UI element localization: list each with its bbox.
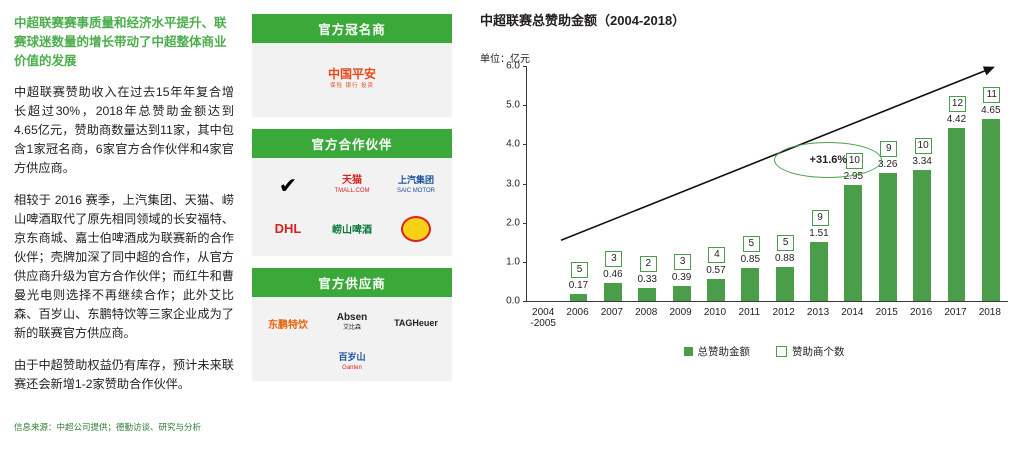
x-axis-tick-label: 2011 <box>732 307 766 318</box>
panel-official-suppliers-body: 东鹏特饮 Absen 艾比森 TAGHeuer 百岁山 Ganten <box>252 297 452 381</box>
absen-logo: Absen 艾比森 <box>322 306 382 340</box>
bar-2006 <box>570 294 588 301</box>
y-axis-tick: 0.0 <box>480 296 520 307</box>
panel-title-sponsor: 官方冠名商 中国平安 保险 银行 投资 <box>252 14 452 117</box>
bar-value-label: 4.42 <box>939 114 973 125</box>
y-axis-tick-mark <box>523 105 527 106</box>
y-axis-tick: 3.0 <box>480 178 520 189</box>
bar-2010 <box>707 279 725 301</box>
bar-value-label: 0.46 <box>596 269 630 280</box>
sponsor-count-box: 9 <box>812 210 829 226</box>
sponsor-count-box: 3 <box>605 251 622 267</box>
y-axis-tick: 2.0 <box>480 217 520 228</box>
y-axis-tick: 6.0 <box>480 61 520 72</box>
legend-item-amount: 总赞助金额 <box>684 344 751 359</box>
shell-logo <box>386 212 446 246</box>
tmall-logo-text: 天猫 <box>342 175 362 186</box>
source-note: 信息来源：中超公司提供；德勤访谈、研究与分析 <box>14 421 201 433</box>
intro-paragraph-3: 由于中超赞助权益仍有库存，预计未来联赛还会新增1-2家赞助合作伙伴。 <box>14 356 234 394</box>
bar-value-label: 3.34 <box>905 156 939 167</box>
absen-logo-subtext: 艾比森 <box>343 323 361 334</box>
bar-2017 <box>948 128 966 301</box>
bar-value-label: 0.39 <box>664 272 698 283</box>
shell-logo-mark <box>401 216 431 242</box>
x-axis-tick-label: 2004-2005 <box>526 307 560 329</box>
sponsor-count-box: 11 <box>983 87 1000 103</box>
chart-legend: 总赞助金额 赞助商个数 <box>524 344 1004 359</box>
pingan-logo-text: 中国平安 <box>328 68 376 81</box>
tagheuer-logo: TAGHeuer <box>386 306 446 340</box>
bar-2016 <box>913 170 931 301</box>
sponsor-count-box: 12 <box>949 96 966 112</box>
intro-heading: 中超联赛赛事质量和经济水平提升、联赛球迷数量的增长带动了中超整体商业价值的发展 <box>14 14 234 71</box>
absen-logo-text: Absen <box>337 312 368 323</box>
y-axis-tick-mark <box>523 144 527 145</box>
legend-swatch-count-icon <box>776 346 787 357</box>
bar-value-label: 0.17 <box>561 280 595 291</box>
sponsor-count-box: 9 <box>880 141 897 157</box>
saic-motor-logo-subtext: SAIC MOTOR <box>397 186 435 197</box>
y-axis-tick-mark <box>523 223 527 224</box>
panel-title-sponsor-body: 中国平安 保险 银行 投资 <box>252 43 452 117</box>
saic-motor-logo-text: 上汽集团 <box>398 175 434 186</box>
x-axis-tick-label: 2015 <box>870 307 904 318</box>
dhl-logo-text: DHL <box>275 221 302 236</box>
sponsor-logo-column: 官方冠名商 中国平安 保险 银行 投资 官方合作伙伴 ✔ 天猫 TMALL.CO… <box>252 14 452 393</box>
sponsor-count-box: 5 <box>777 235 794 251</box>
intro-text-column: 中超联赛赛事质量和经济水平提升、联赛球迷数量的增长带动了中超整体商业价值的发展 … <box>14 14 234 407</box>
x-axis-tick-label: 2007 <box>595 307 629 318</box>
bar-value-label: 0.33 <box>630 274 664 285</box>
saic-motor-logo: 上汽集团 SAIC MOTOR <box>386 169 446 203</box>
chart-container: 中超联赛总赞助金额（2004-2018） 单位：亿元 0.1750.4630.3… <box>478 10 1010 400</box>
tagheuer-logo-text: TAGHeuer <box>394 318 438 328</box>
panel-official-partners: 官方合作伙伴 ✔ 天猫 TMALL.COM 上汽集团 SAIC MOTOR DH… <box>252 129 452 256</box>
ganten-logo-text: 百岁山 <box>338 352 365 363</box>
x-axis-tick-label: 2010 <box>698 307 732 318</box>
x-axis-tick-label: 2014 <box>835 307 869 318</box>
bar-2011 <box>741 268 759 301</box>
y-axis-tick-mark <box>523 184 527 185</box>
eastroc-logo: 东鹏特饮 <box>258 306 318 340</box>
pingan-logo-subtext: 保险 银行 投资 <box>330 81 374 92</box>
chart-plot: 0.1750.4630.3320.3930.5740.8550.8851.519… <box>480 66 1008 334</box>
eastroc-logo-text: 东鹏特饮 <box>268 316 308 331</box>
x-axis-tick-label: 2006 <box>560 307 594 318</box>
y-axis-tick: 5.0 <box>480 100 520 111</box>
ganten-logo: 百岁山 Ganten <box>322 346 382 380</box>
bar-value-label: 4.65 <box>974 105 1008 116</box>
bar-2018 <box>982 119 1000 301</box>
y-axis-tick-mark <box>523 66 527 67</box>
y-axis-tick-mark <box>523 301 527 302</box>
ganten-logo-subtext: Ganten <box>342 363 362 374</box>
bar-2007 <box>604 283 622 301</box>
laoshan-beer-logo-text: 崂山啤酒 <box>332 221 372 236</box>
tmall-logo: 天猫 TMALL.COM <box>322 169 382 203</box>
sponsor-count-box: 5 <box>571 262 588 278</box>
intro-paragraph-1: 中超联赛赞助收入在过去15年年复合增长超过30%，2018年总赞助金额达到4.6… <box>14 83 234 178</box>
bar-2012 <box>776 267 794 301</box>
sponsor-count-box: 10 <box>915 138 932 154</box>
panel-official-suppliers: 官方供应商 东鹏特饮 Absen 艾比森 TAGHeuer 百岁山 Ganten <box>252 268 452 381</box>
bar-value-label: 0.85 <box>733 254 767 265</box>
pingan-logo: 中国平安 保险 银行 投资 <box>307 63 397 97</box>
bar-2015 <box>879 173 897 301</box>
x-axis-tick-label: 2016 <box>904 307 938 318</box>
bar-2014 <box>844 185 862 301</box>
legend-label-count: 赞助商个数 <box>792 344 845 359</box>
bar-value-label: 0.88 <box>768 253 802 264</box>
legend-label-amount: 总赞助金额 <box>698 344 751 359</box>
x-axis-tick-label: 2012 <box>767 307 801 318</box>
x-axis-tick-label: 2017 <box>938 307 972 318</box>
sponsor-count-box: 5 <box>743 236 760 252</box>
panel-official-partners-body: ✔ 天猫 TMALL.COM 上汽集团 SAIC MOTOR DHL 崂山啤酒 <box>252 158 452 256</box>
nike-logo-swoosh: ✔ <box>279 176 297 196</box>
sponsor-count-box: 2 <box>640 256 657 272</box>
x-axis-tick-label: 2009 <box>663 307 697 318</box>
x-axis-tick-label: 2018 <box>973 307 1007 318</box>
x-axis-tick-label: 2008 <box>629 307 663 318</box>
panel-official-suppliers-header: 官方供应商 <box>252 268 452 297</box>
bar-value-label: 0.57 <box>699 265 733 276</box>
legend-item-count: 赞助商个数 <box>776 344 845 359</box>
chart-plot-area: 0.1750.4630.3320.3930.5740.8550.8851.519… <box>526 66 1008 302</box>
y-axis-tick-mark <box>523 262 527 263</box>
y-axis-tick: 4.0 <box>480 139 520 150</box>
sponsor-count-box: 4 <box>708 247 725 263</box>
trend-arrow-icon <box>527 66 1008 301</box>
panel-title-sponsor-header: 官方冠名商 <box>252 14 452 43</box>
x-axis-tick-label: 2013 <box>801 307 835 318</box>
bar-2008 <box>638 288 656 301</box>
bar-2009 <box>673 286 691 301</box>
tmall-logo-subtext: TMALL.COM <box>334 186 369 197</box>
nike-logo: ✔ <box>258 169 318 203</box>
laoshan-beer-logo: 崂山啤酒 <box>322 212 382 246</box>
chart-title: 中超联赛总赞助金额（2004-2018） <box>480 10 1010 29</box>
dhl-logo: DHL <box>258 212 318 246</box>
bar-value-label: 1.51 <box>802 228 836 239</box>
intro-paragraph-2: 相较于 2016 赛季，上汽集团、天猫、崂山啤酒取代了原先相同领域的长安福特、京… <box>14 191 234 343</box>
sponsor-count-box: 3 <box>674 254 691 270</box>
panel-official-partners-header: 官方合作伙伴 <box>252 129 452 158</box>
legend-swatch-amount-icon <box>684 347 693 356</box>
bar-2013 <box>810 242 828 301</box>
y-axis-tick: 1.0 <box>480 256 520 267</box>
